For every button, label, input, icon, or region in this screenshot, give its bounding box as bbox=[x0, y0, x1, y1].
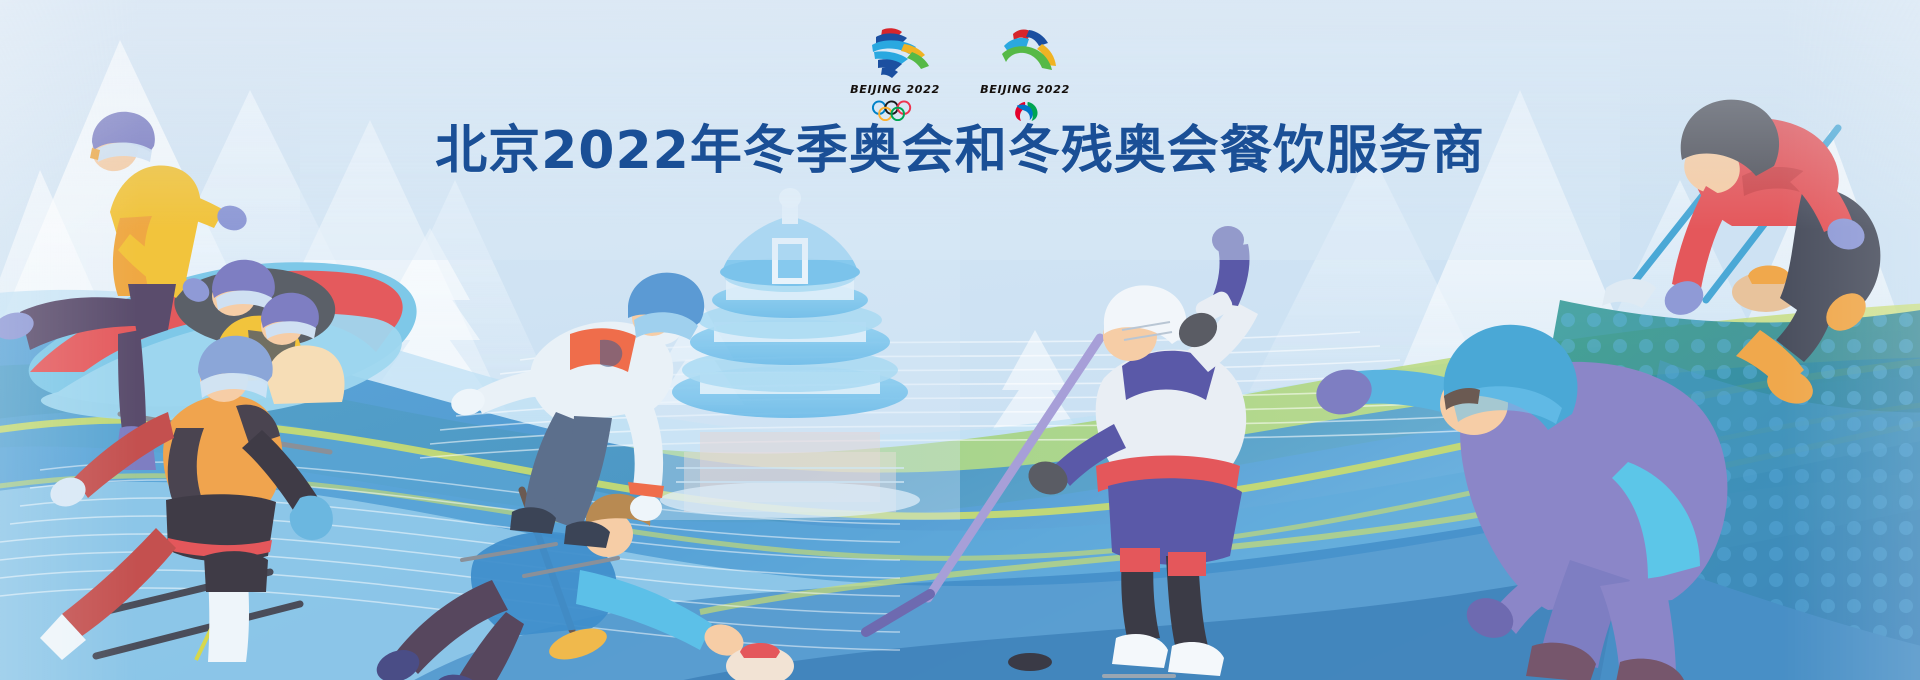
background-illustration bbox=[0, 0, 1920, 680]
event-hero-banner: BEIJING 2022 BEIJING 2022 bbox=[0, 0, 1920, 680]
